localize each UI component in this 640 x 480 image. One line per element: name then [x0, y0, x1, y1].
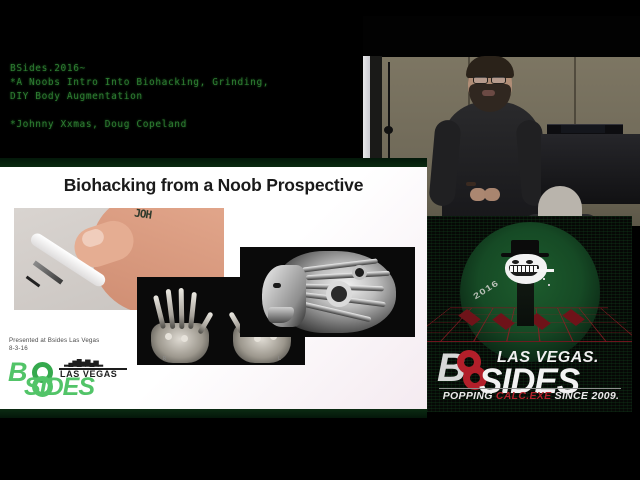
- slide-credit-line-2: 8-3-16: [9, 345, 159, 353]
- injector-needle: [33, 260, 63, 284]
- trollface-teeth: [510, 266, 538, 272]
- trollface-icon: [499, 240, 555, 284]
- speaker-mouth: [482, 90, 495, 96]
- microphone-icon: [384, 126, 393, 134]
- speaker-presenter: [426, 54, 554, 226]
- slide-image-cyborg-robot-head: [240, 247, 415, 337]
- slide-top-border: [0, 158, 427, 167]
- wristband: [466, 182, 476, 186]
- cyborg-eye: [273, 283, 281, 288]
- eyeglasses-icon: [473, 76, 488, 84]
- terminal-line-title: BSides.2016~: [0, 62, 366, 76]
- xray-label-right: L: [278, 356, 281, 362]
- banner-tagline-suffix: SINCE 2009.: [551, 390, 619, 402]
- xray-finger-bone: [179, 288, 185, 329]
- trollface-grin: [509, 265, 539, 276]
- cyborg-gear-icon: [326, 281, 352, 307]
- terminal-overlay: BSides.2016~ *A Noobs Intro Into Biohack…: [0, 0, 366, 160]
- slide-logo-skyline-icon: ▂▄▆█▅▇▄▆▂: [64, 359, 122, 368]
- cigarette-icon: [537, 269, 554, 272]
- speaker-hand-right: [484, 188, 500, 201]
- terminal-line-presenters: *Johnny Xxmas, Doug Copeland: [0, 118, 366, 132]
- terminal-line-talk-1: *A Noobs Intro Into Biohacking, Grinding…: [0, 76, 366, 90]
- slide-logo-las-vegas: LAS VEGAS: [60, 369, 117, 379]
- banner-tagline-highlight: CALC.EXE: [496, 390, 552, 402]
- bsides-banner: 2016 B LAS VEGAS. SIDES POPPING CALC.EXE…: [427, 216, 632, 412]
- banner-tagline: POPPING CALC.EXE SINCE 2009.: [439, 390, 623, 402]
- cyborg-gear-icon: [352, 265, 367, 280]
- xray-label-left: R: [163, 356, 166, 362]
- xray-knuckle: [181, 335, 188, 342]
- eyeglasses-icon: [491, 76, 506, 84]
- terminal-line-talk-2: DIY Body Augmentation: [0, 90, 366, 104]
- xray-knuckle: [165, 333, 172, 340]
- banner-tagline-prefix: POPPING: [443, 390, 496, 402]
- ash-particle: [543, 278, 545, 280]
- trollface-eye-right: [526, 260, 533, 264]
- slide-title: Biohacking from a Noob Prospective: [0, 175, 427, 196]
- speaker-hair: [466, 56, 514, 78]
- slide-credit-line-1: Presented at Bsides Las Vegas: [9, 337, 159, 345]
- ash-particle: [548, 284, 550, 286]
- presentation-slide[interactable]: Biohacking from a Noob Prospective JOH: [0, 167, 427, 411]
- amplifier-brand-badge: [561, 125, 605, 133]
- trollface-eye-left: [512, 260, 519, 264]
- slide-bottom-border: [0, 409, 427, 418]
- injector-needle-tip: [26, 276, 41, 288]
- slide-bsides-logo: B SIDES ▂▄▆█▅▇▄▆▂ LAS VEGAS: [6, 359, 130, 401]
- xray-finger-bone: [153, 295, 166, 329]
- slide-credit: Presented at Bsides Las Vegas 8-3-16: [9, 337, 159, 354]
- screenshot-stage: BSides.2016~ *A Noobs Intro Into Biohack…: [0, 0, 640, 480]
- banner-divider: [439, 388, 621, 389]
